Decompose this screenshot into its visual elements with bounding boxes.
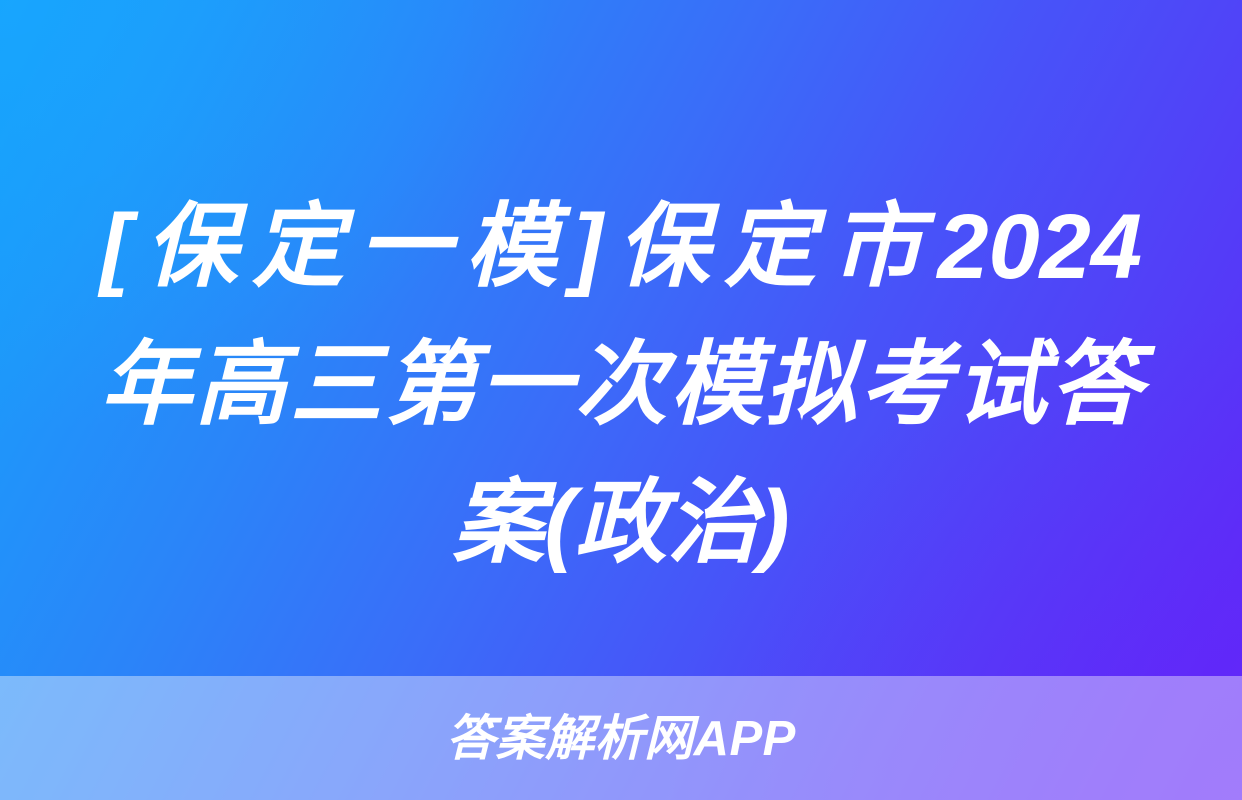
- page-title-line-3: 案(政治): [100, 454, 1142, 592]
- page-title-line-1: [保定一模]保定市2024: [100, 178, 1142, 316]
- exam-answer-cover-card: [保定一模]保定市2024 年高三第一次模拟考试答 案(政治) 答案解析网APP: [0, 0, 1242, 800]
- app-watermark-label: 答案解析网APP: [446, 715, 796, 764]
- page-title-line-2: 年高三第一次模拟考试答: [100, 316, 1142, 454]
- app-watermark-banner: 答案解析网APP: [0, 676, 1242, 800]
- page-title: [保定一模]保定市2024 年高三第一次模拟考试答 案(政治): [100, 178, 1142, 592]
